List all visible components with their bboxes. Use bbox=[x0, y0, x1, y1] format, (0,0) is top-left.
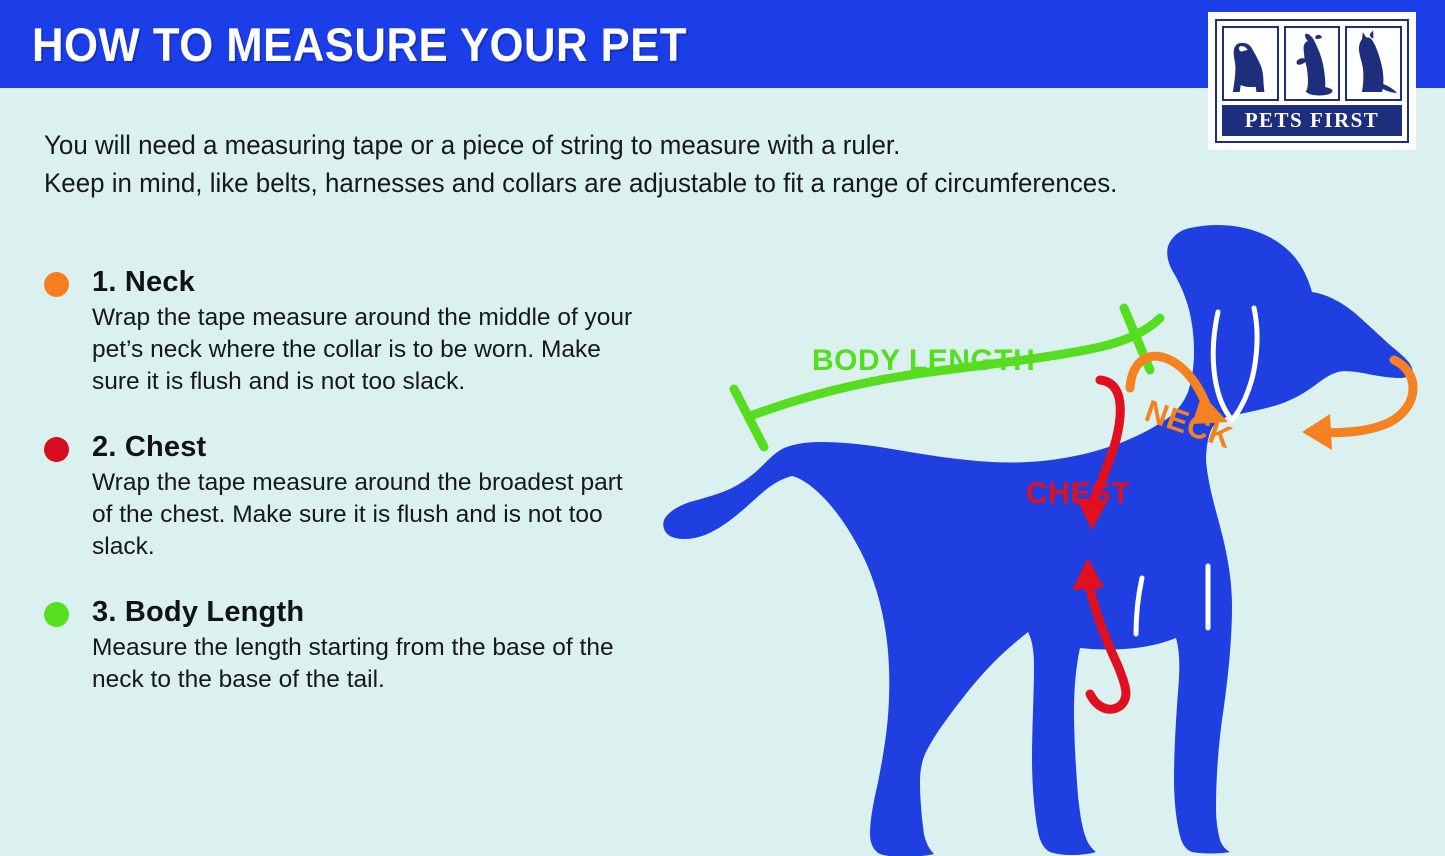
bullet-neck-icon bbox=[44, 272, 69, 297]
label-chest: CHEST bbox=[1026, 477, 1130, 511]
step-neck-body: Wrap the tape measure around the middle … bbox=[92, 302, 644, 398]
logo-banner: PETS FIRST bbox=[1222, 105, 1402, 136]
pet-measuring-guide-page: HOW TO MEASURE YOUR PET bbox=[0, 0, 1445, 856]
dog-measurement-diagram bbox=[630, 210, 1445, 856]
bullet-body-length-icon bbox=[44, 602, 69, 627]
intro-text: You will need a measuring tape or a piec… bbox=[44, 126, 1234, 202]
intro-line-1: You will need a measuring tape or a piec… bbox=[44, 126, 1234, 164]
step-neck: 1. Neck Wrap the tape measure around the… bbox=[44, 265, 644, 398]
label-body-length: BODY LENGTH bbox=[812, 344, 1035, 378]
step-body-length-title: 3. Body Length bbox=[92, 595, 644, 629]
dog-silhouette-icon bbox=[663, 225, 1412, 856]
step-chest: 2. Chest Wrap the tape measure around th… bbox=[44, 430, 644, 563]
step-body-length-body: Measure the length starting from the bas… bbox=[92, 632, 644, 696]
bullet-chest-icon bbox=[44, 437, 69, 462]
logo-silhouette-panels bbox=[1222, 26, 1402, 101]
dog-begging-silhouette-panel bbox=[1284, 26, 1341, 101]
dog-diagram-svg bbox=[630, 210, 1445, 856]
step-chest-body: Wrap the tape measure around the broades… bbox=[92, 467, 644, 563]
logo-wordmark: PETS FIRST bbox=[1245, 110, 1380, 131]
step-body-length: 3. Body Length Measure the length starti… bbox=[44, 595, 644, 696]
dog-sitting-silhouette-panel bbox=[1345, 26, 1402, 101]
intro-line-2: Keep in mind, like belts, harnesses and … bbox=[44, 164, 1234, 202]
dog-sitting-silhouette-icon bbox=[1347, 28, 1400, 99]
body-length-tick-left bbox=[734, 389, 764, 447]
dog-begging-silhouette-icon bbox=[1286, 28, 1339, 99]
neck-arrow-right-head bbox=[1302, 414, 1332, 450]
measurement-steps-list: 1. Neck Wrap the tape measure around the… bbox=[44, 265, 644, 696]
logo-frame: PETS FIRST bbox=[1215, 19, 1409, 143]
step-chest-title: 2. Chest bbox=[92, 430, 644, 464]
pets-first-logo: PETS FIRST bbox=[1208, 12, 1416, 150]
dog-lying-silhouette-panel bbox=[1222, 26, 1279, 101]
dog-lying-silhouette-icon bbox=[1224, 28, 1277, 99]
step-neck-title: 1. Neck bbox=[92, 265, 644, 299]
page-title: HOW TO MEASURE YOUR PET bbox=[32, 17, 687, 72]
